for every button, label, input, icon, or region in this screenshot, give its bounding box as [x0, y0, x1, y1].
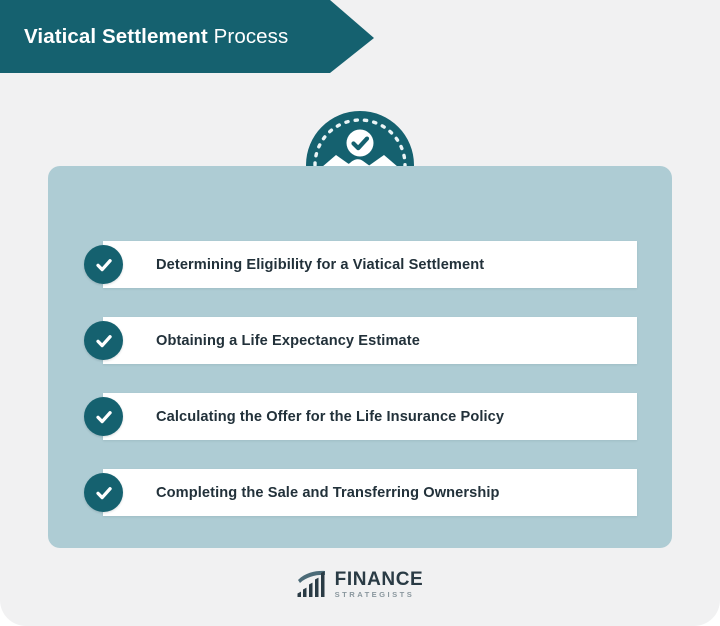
check-icon: [84, 321, 123, 360]
check-icon: [84, 397, 123, 436]
brand-logo: FINANCE STRATEGISTS: [0, 566, 720, 602]
page-title-strong: Viatical Settlement: [24, 25, 208, 48]
step-label: Determining Eligibility for a Viatical S…: [103, 257, 484, 273]
header-banner: Viatical Settlement Process: [0, 0, 374, 73]
infographic-page: Viatical Settlement Process: [0, 0, 720, 626]
list-item[interactable]: Determining Eligibility for a Viatical S…: [84, 241, 637, 288]
step-card[interactable]: Obtaining a Life Expectancy Estimate: [103, 317, 637, 364]
page-title: Viatical Settlement Process: [0, 25, 288, 49]
brand-wordmark: FINANCE STRATEGISTS: [335, 570, 424, 599]
step-card[interactable]: Calculating the Offer for the Life Insur…: [103, 393, 637, 440]
step-label: Completing the Sale and Transferring Own…: [103, 485, 500, 501]
check-icon: [84, 473, 123, 512]
step-card[interactable]: Completing the Sale and Transferring Own…: [103, 469, 637, 516]
process-step-list: Determining Eligibility for a Viatical S…: [84, 241, 637, 516]
step-card[interactable]: Determining Eligibility for a Viatical S…: [103, 241, 637, 288]
brand-name: FINANCE: [335, 570, 424, 589]
finance-strategists-logo-mark: [297, 570, 328, 599]
list-item[interactable]: Completing the Sale and Transferring Own…: [84, 469, 637, 516]
page-title-light: Process: [214, 25, 289, 48]
list-item[interactable]: Calculating the Offer for the Life Insur…: [84, 393, 637, 440]
list-item[interactable]: Obtaining a Life Expectancy Estimate: [84, 317, 637, 364]
step-label: Calculating the Offer for the Life Insur…: [103, 409, 504, 425]
check-icon: [84, 245, 123, 284]
brand-subtitle: STRATEGISTS: [335, 591, 424, 599]
step-label: Obtaining a Life Expectancy Estimate: [103, 333, 420, 349]
